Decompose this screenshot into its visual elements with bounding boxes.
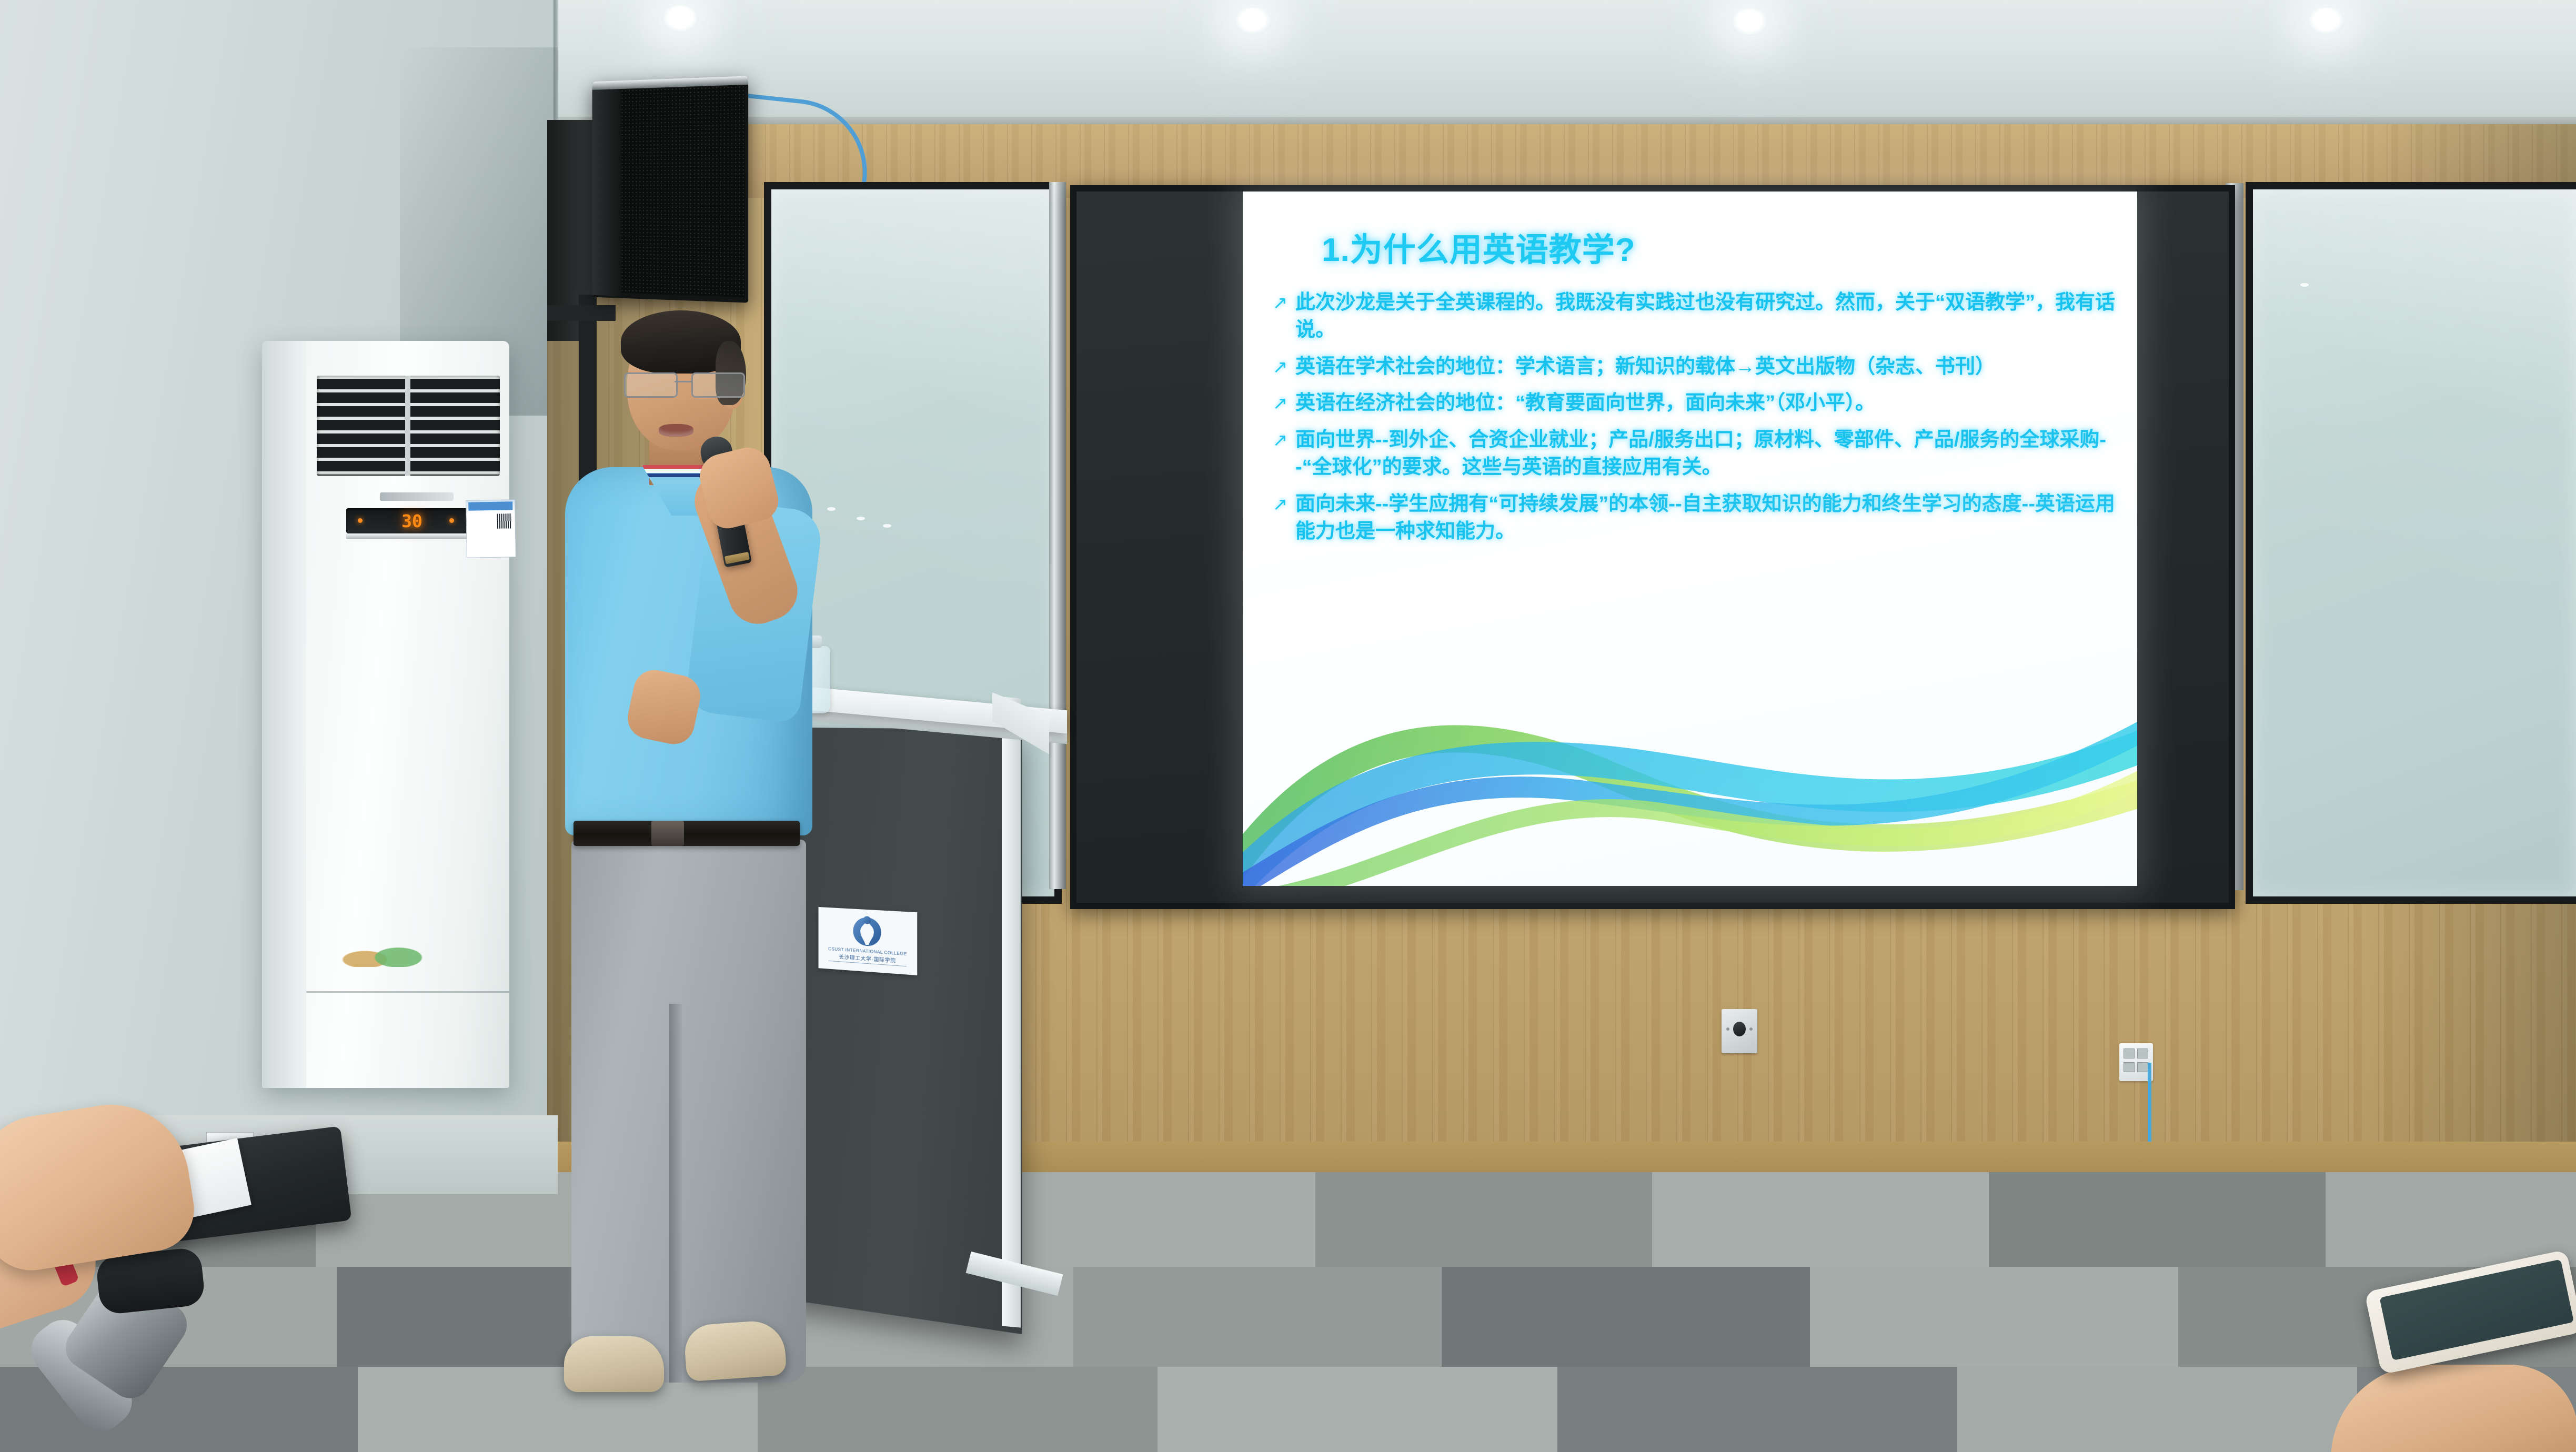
carpet-tile	[1442, 1267, 1810, 1367]
slide-wave-decoration	[1243, 712, 2137, 886]
list-item: ↗ 此次沙龙是关于全英课程的。我既没有实践过也没有研究过。然而，关于“双语教学”…	[1265, 289, 2128, 344]
ac-temperature-readout: 30	[346, 508, 478, 533]
presenter-mouth	[659, 424, 693, 437]
bullet-text: 此次沙龙是关于全英课程的。我既没有实践过也没有研究过。然而，关于“双语教学”，我…	[1295, 289, 2128, 344]
carpet-tile	[758, 1367, 1158, 1452]
bullet-text: 英语在学术社会的地位：学术语言；新知识的载体→英文出版物（杂志、书刊）	[1295, 353, 2128, 380]
glass-light-reflection-4	[2300, 283, 2309, 287]
arrow-bullet-icon: ↗	[1265, 289, 1295, 315]
pa-speaker: DSPPA	[592, 76, 749, 302]
carpet-tile	[2326, 1172, 2576, 1267]
slide-bullet-list: ↗ 此次沙龙是关于全英课程的。我既没有实践过也没有研究过。然而，关于“双语教学”…	[1265, 289, 2128, 554]
presenter-trousers	[571, 840, 806, 1383]
glass-whiteboard-right	[2246, 182, 2576, 904]
carpet-tile	[1158, 1367, 1557, 1452]
ac-decorative-decal	[341, 933, 434, 967]
downlight-4	[2308, 7, 2344, 35]
podium-right-rail	[1002, 697, 1021, 1327]
list-item: ↗ 英语在学术社会的地位：学术语言；新知识的载体→英文出版物（杂志、书刊）	[1265, 353, 2128, 380]
ac-chrome-trim	[346, 533, 478, 539]
carpet-tile	[1073, 1267, 1442, 1367]
audio-xlr-wall-plate[interactable]	[1722, 1009, 1757, 1053]
network-port-1	[2124, 1048, 2135, 1058]
carpet-tile	[979, 1172, 1315, 1267]
list-item: ↗ 面向未来--学生应拥有“可持续发展”的本领--自主获取知识的能力和终生学习的…	[1265, 490, 2128, 546]
carpet-tile	[1315, 1172, 1652, 1267]
eyeglass-lens-left	[624, 372, 678, 398]
arrow-bullet-icon: ↗	[1265, 490, 1295, 516]
presenter-shoe-right	[683, 1319, 787, 1382]
carpet-tiles	[0, 1172, 2576, 1452]
ac-sticker-header	[468, 501, 512, 510]
glass-light-reflection-3	[883, 524, 891, 528]
presenter-belt	[573, 821, 800, 846]
lecture-hall-photo: DSPPA 30	[0, 0, 2576, 1452]
eyeglass-lens-right	[691, 372, 745, 398]
ac-service-sticker	[466, 499, 516, 558]
eyeglasses-icon	[624, 372, 748, 397]
ac-grille-divider	[405, 376, 410, 476]
presenter-shoe-left	[564, 1336, 664, 1392]
list-item: ↗ 英语在经济社会的地位：“教育要面向世界，面向未来”（邓小平）。	[1265, 389, 2128, 417]
network-port-2	[2137, 1048, 2148, 1058]
microphone-band	[724, 552, 750, 564]
glass-reflection-right	[2253, 189, 2576, 896]
arrow-bullet-icon: ↗	[1265, 389, 1295, 415]
carpet-tile	[1989, 1172, 2326, 1267]
carpet-tile	[1652, 1172, 1989, 1267]
arrow-bullet-icon: ↗	[1265, 353, 1295, 379]
steel-divider-left	[1049, 182, 1066, 889]
air-conditioner: 30	[262, 341, 509, 1088]
downlight-3	[1731, 8, 1768, 36]
ac-display-panel[interactable]: 30	[346, 508, 478, 533]
list-item: ↗ 面向世界--到外企、合资企业就业；产品/服务出口；原材料、零部件、产品/服务…	[1265, 426, 2128, 481]
bullet-text: 面向世界--到外企、合资企业就业；产品/服务出口；原材料、零部件、产品/服务的全…	[1295, 426, 2128, 481]
ac-side-panel	[262, 341, 306, 1088]
projected-slide: 1.为什么用英语教学? ↗ 此次沙龙是关于全英课程的。我既没有实践过也没有研究过…	[1243, 191, 2137, 886]
ac-brand-logo	[380, 492, 454, 501]
plate-screw-left	[1726, 1027, 1729, 1031]
carpet-tile	[1957, 1367, 2357, 1452]
downlight-1	[662, 5, 699, 33]
eyeglass-bridge	[675, 381, 691, 382]
slide-title: 1.为什么用英语教学?	[1322, 223, 2085, 270]
downlight-2	[1234, 7, 1271, 35]
bullet-text: 面向未来--学生应拥有“可持续发展”的本领--自主获取知识的能力和终生学习的态度…	[1295, 490, 2128, 546]
plate-screw-right	[1749, 1027, 1753, 1031]
network-port-4	[2137, 1062, 2148, 1072]
presenter	[537, 309, 863, 1309]
arrow-bullet-icon: ↗	[1265, 426, 1295, 452]
network-port-3	[2124, 1062, 2135, 1072]
bullet-text: 英语在经济社会的地位：“教育要面向世界，面向未来”（邓小平）。	[1295, 389, 2128, 417]
carpet-tile	[1810, 1267, 2178, 1367]
xlr-connector-icon	[1733, 1022, 1746, 1036]
trouser-leg-seam	[669, 1004, 682, 1383]
carpet-tile	[1557, 1367, 1957, 1452]
speaker-side-panel	[592, 85, 621, 296]
ac-body-seam	[306, 991, 509, 993]
qr-code-icon	[497, 513, 512, 528]
belt-buckle	[651, 821, 684, 846]
speaker-grille	[621, 86, 745, 297]
